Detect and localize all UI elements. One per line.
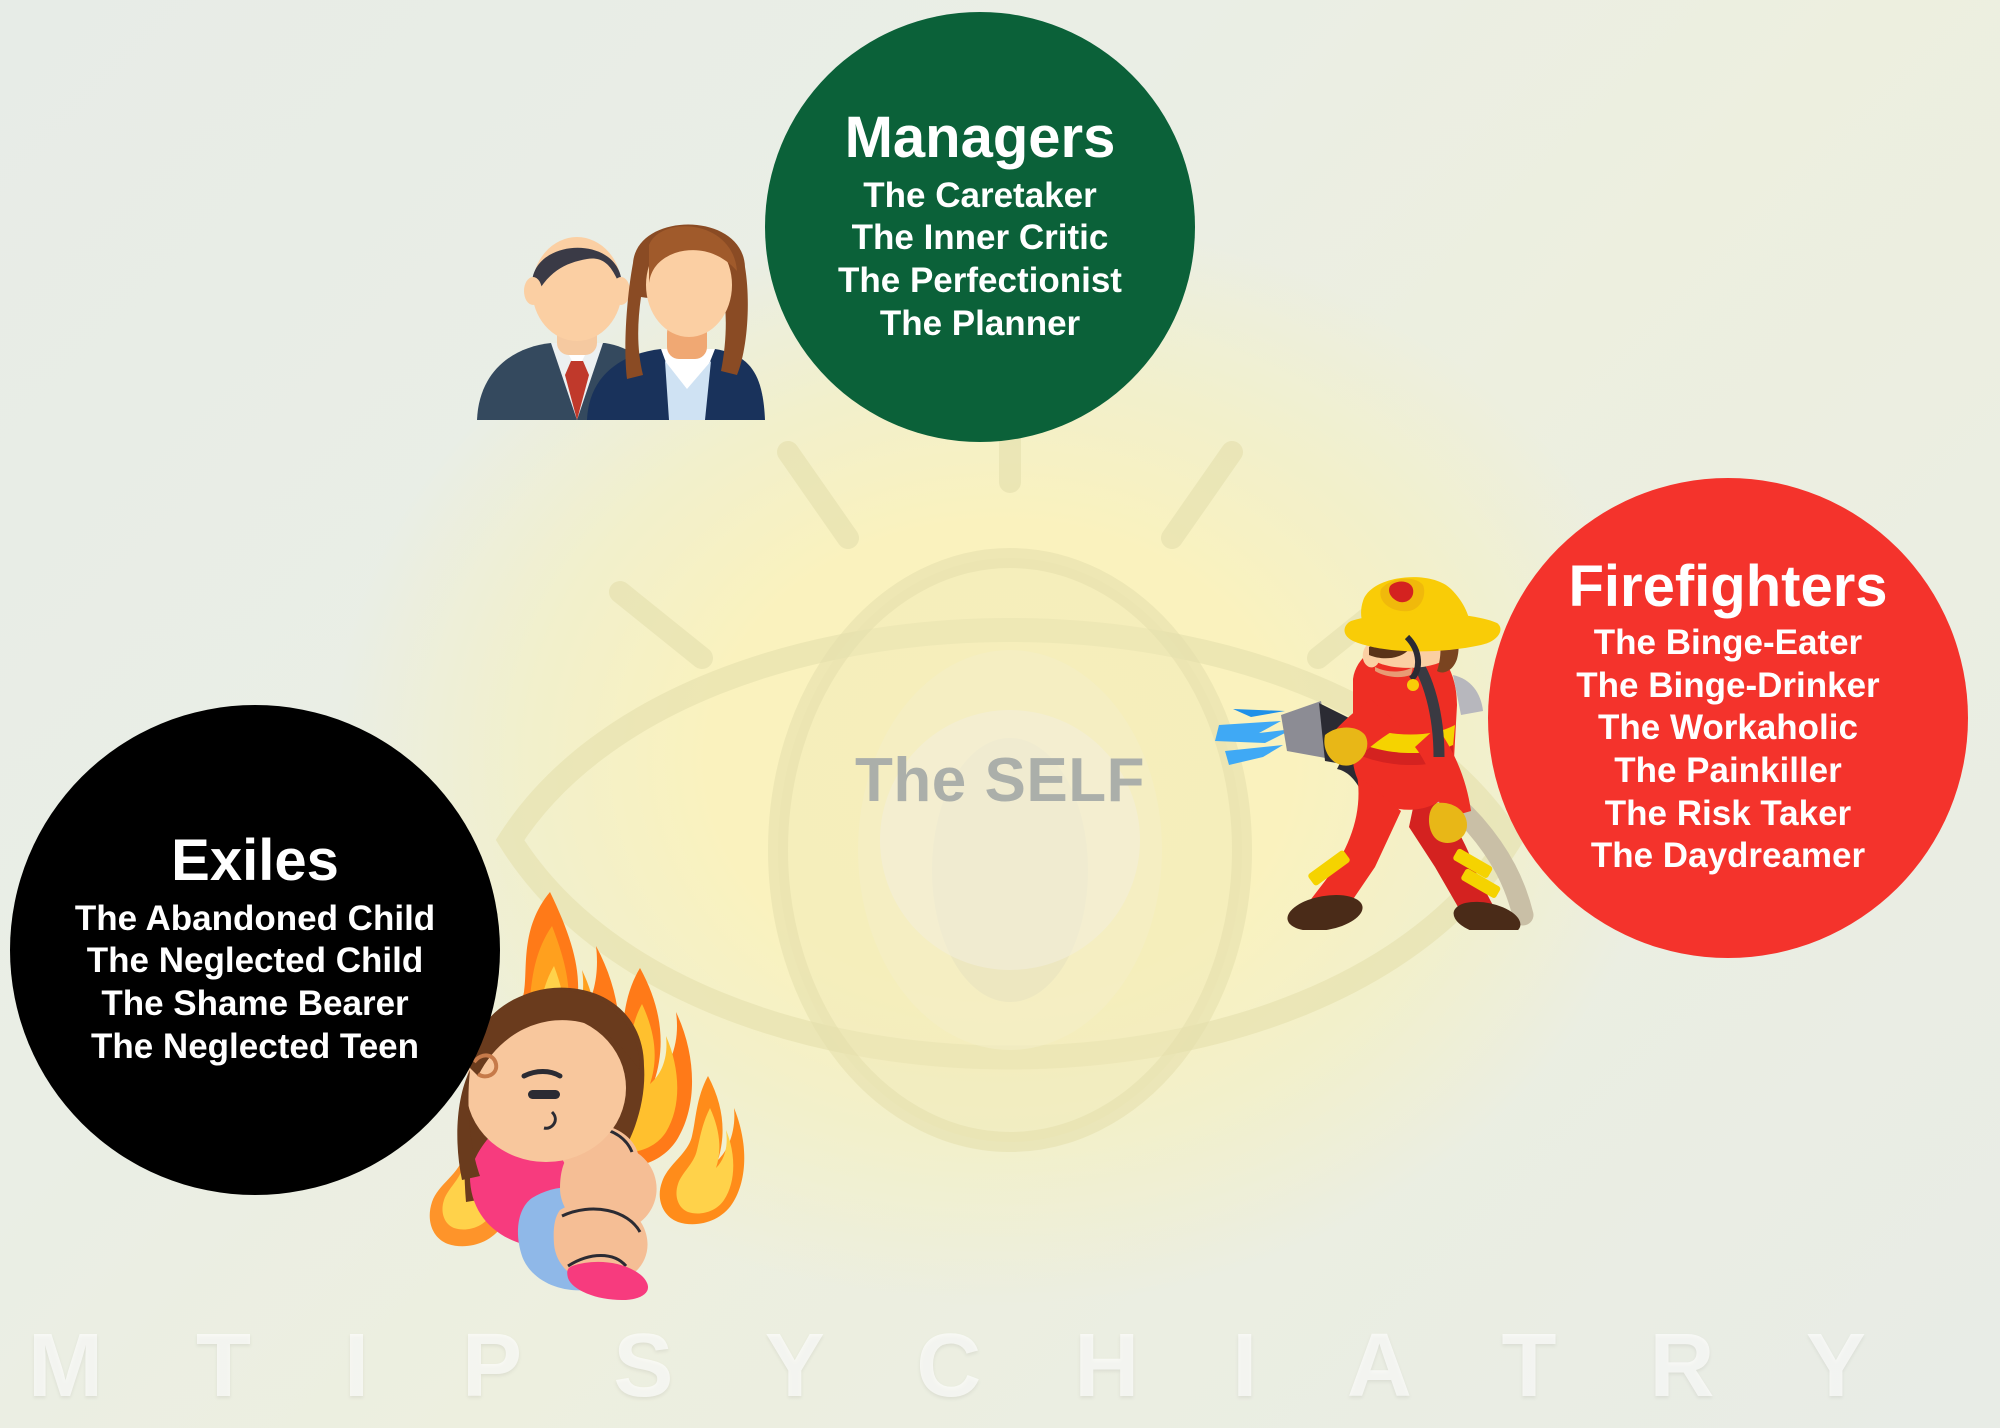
bubble-exiles-title: Exiles — [171, 832, 339, 890]
list-item: The Caretaker — [863, 175, 1096, 218]
brand-watermark: M T I P S Y C H I A T R Y — [28, 1315, 1900, 1418]
bubble-managers-list: The Caretaker The Inner Critic The Perfe… — [838, 175, 1122, 346]
list-item: The Perfectionist — [838, 260, 1122, 303]
list-item: The Risk Taker — [1605, 793, 1851, 836]
bubble-firefighters-list: The Binge-Eater The Binge-Drinker The Wo… — [1576, 622, 1879, 878]
list-item: The Planner — [880, 303, 1080, 346]
eye-watermark-graphic — [470, 370, 1550, 1270]
list-item: The Workaholic — [1598, 707, 1858, 750]
diagram-canvas: The SELF M T I P S Y C H I A T R Y — [0, 0, 2000, 1428]
bubble-firefighters-title: Firefighters — [1568, 558, 1887, 616]
list-item: The Inner Critic — [852, 217, 1109, 260]
list-item: The Neglected Child — [87, 940, 423, 983]
business-couple-icon — [465, 175, 765, 420]
list-item: The Binge-Drinker — [1576, 665, 1879, 708]
list-item: The Abandoned Child — [75, 898, 435, 941]
bubble-exiles[interactable]: Exiles The Abandoned Child The Neglected… — [10, 705, 500, 1195]
list-item: The Daydreamer — [1591, 835, 1865, 878]
list-item: The Painkiller — [1614, 750, 1842, 793]
bubble-exiles-list: The Abandoned Child The Neglected Child … — [75, 898, 435, 1069]
bubble-managers[interactable]: Managers The Caretaker The Inner Critic … — [765, 12, 1195, 442]
bubble-managers-title: Managers — [845, 109, 1116, 167]
list-item: The Binge-Eater — [1594, 622, 1862, 665]
list-item: The Shame Bearer — [101, 983, 408, 1026]
list-item: The Neglected Teen — [91, 1026, 419, 1069]
bubble-firefighters[interactable]: Firefighters The Binge-Eater The Binge-D… — [1488, 478, 1968, 958]
